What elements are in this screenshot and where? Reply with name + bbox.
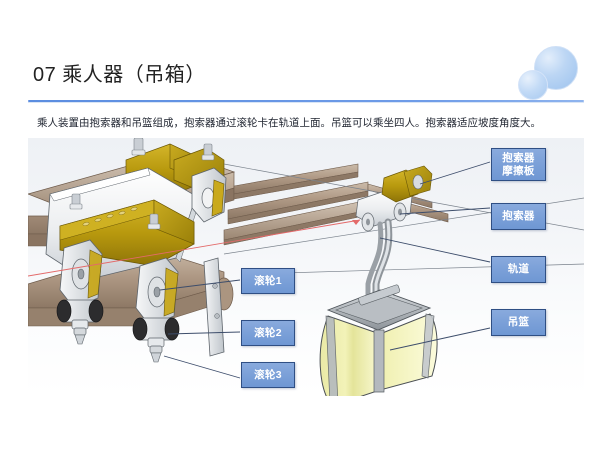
label-roller-2-text: 滚轮2 [254,327,282,340]
label-grip-text: 抱索器 [502,210,534,223]
slide-root: 07 乘人器（吊箱） 乘人装置由抱索器和吊篮组成，抱索器通过滚轮卡在轨道上面。吊… [0,0,600,450]
gondola-cabin [320,284,437,396]
title-divider-shadow [28,102,584,103]
decorative-circle-small-icon [518,70,548,100]
description-text: 乘人装置由抱索器和吊篮组成，抱索器通过滚轮卡在轨道上面。吊篮可以乘坐四人。抱索器… [37,116,567,130]
label-grip-friction-plate[interactable]: 抱索器 摩擦板 [491,148,546,181]
label-grip[interactable]: 抱索器 [491,203,546,230]
label-grip-friction-plate-line2: 摩擦板 [502,165,534,178]
label-cabin[interactable]: 吊篮 [491,309,546,336]
grip-assembly-detail [28,138,234,362]
label-roller-2[interactable]: 滚轮2 [241,320,295,346]
label-roller-3[interactable]: 滚轮3 [241,362,295,388]
label-track[interactable]: 轨道 [491,256,546,283]
header-decoration [502,38,592,104]
label-roller-1-text: 滚轮1 [254,275,282,288]
page-title: 07 乘人器（吊箱） [33,58,206,87]
roller-unit-2 [133,258,179,362]
friction-plate [192,168,226,222]
label-roller-3-text: 滚轮3 [254,369,282,382]
roller-unit-1 [57,240,103,344]
label-roller-1[interactable]: 滚轮1 [241,268,295,294]
label-track-text: 轨道 [508,263,530,276]
label-grip-friction-plate-line1: 抱索器 [502,152,534,165]
label-cabin-text: 吊篮 [508,316,530,329]
